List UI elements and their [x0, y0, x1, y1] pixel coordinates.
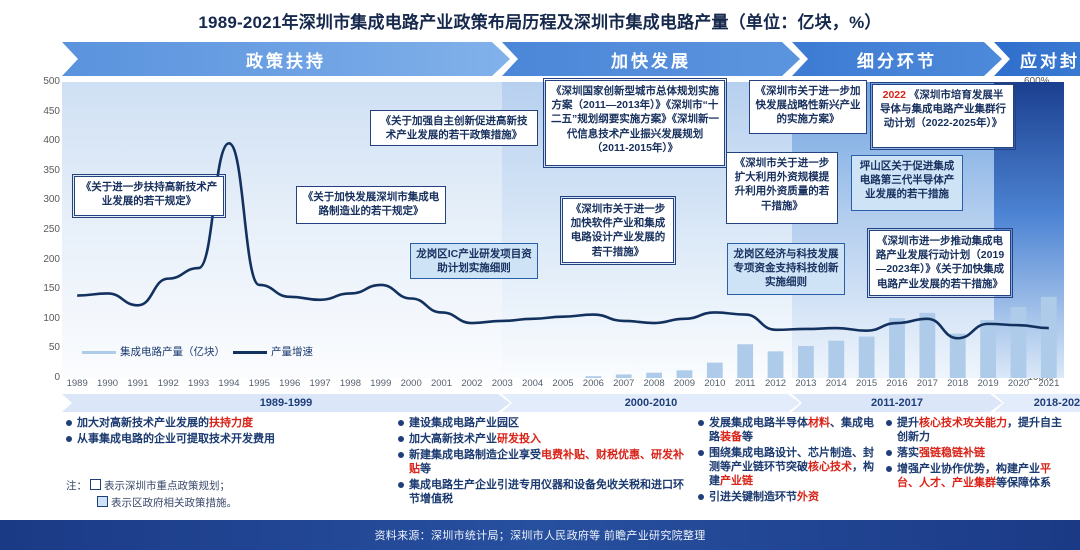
y-tick-left: 350 — [20, 165, 60, 176]
x-tick-year: 2000 — [401, 378, 422, 389]
bullet-highlight: 核心技术 — [808, 461, 852, 473]
x-tick-year: 1999 — [370, 378, 391, 389]
legend-item-growth: 产量增速 — [233, 344, 313, 359]
bullet-plain: 等 — [742, 431, 753, 443]
bullet-column-4: 提升核心技术攻关能力，提升自主创新力落实强链稳链补链增强产业协作优势，构建产业平… — [886, 416, 1064, 492]
square-district-icon — [97, 496, 108, 507]
bullet-plain: 从事集成电路的企业可提取技术开发费用 — [77, 433, 275, 445]
policy-callout-box[interactable]: 《深圳市关于进一步扩大利用外资规模提升利用外资质量的若干措施》 — [726, 152, 838, 224]
period-label-2: 2000-2010 — [502, 394, 800, 412]
policy-callout-box[interactable]: 《关于加快发展深圳市集成电路制造业的若干规定》 — [296, 186, 446, 224]
phase-banner: 政策扶持 加快发展 细分环节 应对封锁 — [62, 42, 1064, 76]
callout-text: 《关于加快发展深圳市集成电路制造业的若干规定》 — [303, 191, 440, 217]
x-tick-year: 2008 — [644, 378, 665, 389]
y-tick-left: 150 — [20, 283, 60, 294]
y-tick-left: 50 — [20, 342, 60, 353]
x-tick-year: 2004 — [522, 378, 543, 389]
square-key-icon — [90, 479, 101, 490]
x-tick-year: 1998 — [340, 378, 361, 389]
y-tick-left: 100 — [20, 313, 60, 324]
policy-callout-box[interactable]: 《关于进一步扶持高新技术产业发展的若干规定》 — [74, 176, 224, 216]
x-tick-year: 2007 — [613, 378, 634, 389]
legend-note: 注：表示深圳市重点政策规划； 表示区政府相关政策措施。 — [66, 478, 237, 512]
bullet-text: 发展集成电路半导体材料、集成电路装备等 — [709, 416, 882, 444]
bullet-plain: 建设集成电路产业园区 — [409, 417, 519, 429]
x-tick-year: 1994 — [218, 378, 239, 389]
bullet-column-2: 建设集成电路产业园区加大高新技术产业研发投入新建集成电路制造企业享受电费补贴、财… — [398, 416, 694, 508]
bullet-highlight: 核心技术攻关能力 — [919, 417, 1007, 429]
callout-text: 《深圳市关于进一步加快软件产业和集成电路设计产业发展的若干措施》 — [571, 203, 666, 258]
bullet-text: 落实强链稳链补链 — [897, 446, 985, 460]
bullet-highlight: 材料 — [808, 417, 830, 429]
bullet-text: 加大高新技术产业研发投入 — [409, 432, 541, 446]
bullet-item: 增强产业协作优势，构建产业平台、人才、产业集群等保障体系 — [886, 462, 1064, 490]
x-tick-year: 2006 — [583, 378, 604, 389]
bullet-item: 提升核心技术攻关能力，提升自主创新力 — [886, 416, 1064, 444]
callout-text: 坪山区关于促进集成电路第三代半导体产业发展的若干措施 — [860, 160, 955, 200]
bullet-item: 加大对高新技术产业发展的扶持力度 — [66, 416, 388, 430]
phase-chevron-2[interactable]: 加快发展 — [502, 42, 800, 76]
policy-callout-box[interactable]: 龙岗区IC产业研发项目资助计划实施细则 — [410, 243, 538, 279]
phase-chevron-3[interactable]: 细分环节 — [792, 42, 1002, 76]
x-tick-year: 2019 — [978, 378, 999, 389]
callout-text: 《深圳国家创新型城市总体规划实施方案（2011—2013年）》《深圳市“十二五”… — [551, 85, 719, 154]
callout-year: 2022 — [883, 89, 909, 101]
bullet-dot-icon — [886, 466, 892, 472]
callout-text: 《深圳市关于进一步扩大利用外资规模提升利用外资质量的若干措施》 — [735, 157, 830, 212]
bullet-dot-icon — [886, 420, 892, 426]
bullet-plain: 加大对高新技术产业发展的 — [77, 417, 209, 429]
phase-chevron-4[interactable]: 应对封锁 — [994, 42, 1080, 76]
bullet-text: 加大对高新技术产业发展的扶持力度 — [77, 416, 253, 430]
policy-callout-box[interactable]: 坪山区关于促进集成电路第三代半导体产业发展的若干措施 — [851, 155, 963, 211]
y-tick-left: 250 — [20, 224, 60, 235]
policy-callout-box[interactable]: 《关于加强自主创新促进高新技术产业发展的若干政策措施》 — [370, 110, 538, 146]
y-tick-left: 200 — [20, 254, 60, 265]
legend-label-output: 集成电路产量（亿块） — [120, 346, 225, 358]
bullet-plain: 集成电路生产企业引进专用仪器和设备免收关税和进口环节增值税 — [409, 479, 684, 505]
x-tick-year: 2002 — [461, 378, 482, 389]
period-band: 1989-1999 2000-2010 2011-2017 2018-2022 — [62, 394, 1064, 412]
x-tick-year: 1990 — [97, 378, 118, 389]
bullet-item: 加大高新技术产业研发投入 — [398, 432, 694, 446]
period-label-1: 1989-1999 — [62, 394, 510, 412]
bullet-dot-icon — [66, 420, 72, 426]
x-tick-year: 1996 — [279, 378, 300, 389]
x-tick-year: 2012 — [765, 378, 786, 389]
x-tick-year: 2011 — [735, 378, 755, 389]
bullet-highlight: 外资 — [797, 491, 819, 503]
chart-bar — [737, 344, 753, 378]
bullet-dot-icon — [698, 494, 704, 500]
note-line-2: 表示区政府相关政策措施。 — [66, 495, 237, 512]
chart-bar — [1011, 307, 1027, 378]
x-tick-year: 2017 — [917, 378, 938, 389]
callout-text: 龙岗区IC产业研发项目资助计划实施细则 — [416, 248, 532, 274]
bullet-plain: 增强产业协作优势，构建产业 — [897, 463, 1040, 475]
note-text-1: 表示深圳市重点政策规划； — [104, 480, 230, 492]
bullet-text: 引进关键制造环节外资 — [709, 490, 819, 504]
bullet-highlight: 扶持力度 — [209, 417, 253, 429]
x-tick-year: 2001 — [431, 378, 452, 389]
chart-bar — [950, 334, 966, 378]
bullet-item: 从事集成电路的企业可提取技术开发费用 — [66, 432, 388, 446]
bullet-text: 提升核心技术攻关能力，提升自主创新力 — [897, 416, 1064, 444]
bullet-plain: 落实 — [897, 447, 919, 459]
x-tick-year: 1997 — [310, 378, 331, 389]
callout-text: 《关于进一步扶持高新技术产业发展的若干规定》 — [81, 181, 218, 207]
x-axis: 1989199019911992199319941995199619971998… — [62, 378, 1064, 394]
bullet-text: 建设集成电路产业园区 — [409, 416, 519, 430]
y-tick-left: 300 — [20, 194, 60, 205]
policy-callout-box[interactable]: 龙岗区经济与科技发展专项资金支持科技创新实施细则 — [727, 243, 845, 295]
bullet-plain: 等保障体系 — [996, 477, 1051, 489]
bullet-dot-icon — [398, 420, 404, 426]
bullet-column-3: 发展集成电路半导体材料、集成电路装备等围绕集成电路设计、芯片制造、封测等产业链环… — [698, 416, 882, 506]
bullet-item: 落实强链稳链补链 — [886, 446, 1064, 460]
chart-bar — [768, 351, 784, 378]
note-line-1: 注：表示深圳市重点政策规划； — [66, 478, 237, 495]
bullet-item: 发展集成电路半导体材料、集成电路装备等 — [698, 416, 882, 444]
x-tick-year: 1989 — [67, 378, 88, 389]
x-tick-year: 2021 — [1038, 378, 1059, 389]
y-tick-left: 0 — [20, 372, 60, 383]
bullet-plain: 提升 — [897, 417, 919, 429]
policy-callout-box[interactable]: 《深圳市进一步推动集成电路产业发展行动计划（2019—2023年）》《关于加快集… — [869, 230, 1011, 296]
period-label-3: 2011-2017 — [792, 394, 1002, 412]
bullet-column-1: 加大对高新技术产业发展的扶持力度从事集成电路的企业可提取技术开发费用 — [66, 416, 388, 448]
phase-chevron-1[interactable]: 政策扶持 — [62, 42, 510, 76]
legend-swatch-growth — [233, 351, 267, 354]
bullet-item: 引进关键制造环节外资 — [698, 490, 882, 504]
chart-legend: 集成电路产量（亿块） 产量增速 — [82, 344, 313, 359]
chart-bar — [889, 318, 905, 378]
period-label-4: 2018-2022 — [994, 394, 1080, 412]
bullet-dot-icon — [398, 452, 404, 458]
x-tick-year: 1993 — [188, 378, 209, 389]
bullet-dot-icon — [698, 450, 704, 456]
bullet-dot-icon — [886, 450, 892, 456]
x-tick-year: 2005 — [552, 378, 573, 389]
callout-text: 《深圳市关于进一步加快发展战略性新兴产业的实施方案》 — [756, 85, 861, 125]
bullet-dot-icon — [398, 482, 404, 488]
bullet-dot-icon — [398, 436, 404, 442]
x-tick-year: 1991 — [127, 378, 148, 389]
bullet-plain: 新建集成电路制造企业享受 — [409, 449, 541, 461]
source-footer: 资料来源：深圳市统计局；深圳市人民政府等 前瞻产业研究院整理 — [0, 520, 1080, 550]
note-text-2: 表示区政府相关政策措施。 — [111, 497, 237, 509]
bullet-item: 新建集成电路制造企业享受电费补贴、财税优惠、研发补贴等 — [398, 448, 694, 476]
bullet-highlight: 强链稳链补链 — [919, 447, 985, 459]
callout-text: 龙岗区经济与科技发展专项资金支持科技创新实施细则 — [734, 248, 839, 288]
x-tick-year: 2010 — [704, 378, 725, 389]
x-tick-year: 2009 — [674, 378, 695, 389]
legend-swatch-output — [82, 351, 116, 354]
x-tick-year: 2018 — [947, 378, 968, 389]
bullet-highlight: 装备 — [720, 431, 742, 443]
page-title: 1989-2021年深圳市集成电路产业政策布局历程及深圳市集成电路产量（单位：亿… — [0, 8, 1080, 33]
bullet-text: 从事集成电路的企业可提取技术开发费用 — [77, 432, 275, 446]
bullet-highlight: 研发投入 — [497, 433, 541, 445]
x-tick-year: 1992 — [158, 378, 179, 389]
bullet-text: 新建集成电路制造企业享受电费补贴、财税优惠、研发补贴等 — [409, 448, 694, 476]
chart-bar — [707, 363, 723, 378]
bullet-item: 建设集成电路产业园区 — [398, 416, 694, 430]
policy-callout-box[interactable]: 2022 《深圳市培育发展半导体与集成电路产业集群行动计划（2022-2025年… — [872, 84, 1014, 148]
chart-bar — [859, 337, 875, 378]
x-tick-year: 2014 — [826, 378, 847, 389]
bullet-plain: 等 — [420, 463, 431, 475]
policy-callout-box[interactable]: 《深圳国家创新型城市总体规划实施方案（2011—2013年）》《深圳市“十二五”… — [545, 80, 725, 166]
bullet-plain: 加大高新技术产业 — [409, 433, 497, 445]
legend-label-growth: 产量增速 — [271, 346, 313, 358]
bullet-dot-icon — [66, 436, 72, 442]
chart-bar — [828, 341, 844, 378]
chart-bar — [919, 313, 935, 378]
bullet-text: 围绕集成电路设计、芯片制造、封测等产业链环节突破核心技术，构建产业链 — [709, 446, 882, 488]
policy-callout-box[interactable]: 《深圳市关于进一步加快软件产业和集成电路设计产业发展的若干措施》 — [562, 198, 674, 263]
bullet-plain: 引进关键制造环节 — [709, 491, 797, 503]
x-tick-year: 2013 — [795, 378, 816, 389]
bullet-highlight: 产业链 — [720, 475, 753, 487]
x-tick-year: 2016 — [886, 378, 907, 389]
x-tick-year: 2015 — [856, 378, 877, 389]
legend-item-output: 集成电路产量（亿块） — [82, 344, 225, 359]
y-tick-left: 400 — [20, 135, 60, 146]
bullet-text: 增强产业协作优势，构建产业平台、人才、产业集群等保障体系 — [897, 462, 1064, 490]
callout-text: 《深圳市进一步推动集成电路产业发展行动计划（2019—2023年）》《关于加快集… — [876, 235, 1004, 290]
chart-bar — [1041, 297, 1057, 378]
y-tick-left: 450 — [20, 106, 60, 117]
chart-bar — [980, 320, 996, 378]
y-tick-left: 500 — [20, 76, 60, 87]
chart-bar — [677, 370, 693, 378]
x-tick-year: 2020 — [1008, 378, 1029, 389]
chart-bar — [798, 346, 814, 378]
bullet-item: 围绕集成电路设计、芯片制造、封测等产业链环节突破核心技术，构建产业链 — [698, 446, 882, 488]
y-axis-left: 050100150200250300350400450500 — [16, 82, 60, 378]
bullet-text: 集成电路生产企业引进专用仪器和设备免收关税和进口环节增值税 — [409, 478, 694, 506]
bullet-item: 集成电路生产企业引进专用仪器和设备免收关税和进口环节增值税 — [398, 478, 694, 506]
policy-callout-box[interactable]: 《深圳市关于进一步加快发展战略性新兴产业的实施方案》 — [749, 80, 867, 134]
infographic-page: 1989-2021年深圳市集成电路产业政策布局历程及深圳市集成电路产量（单位：亿… — [0, 0, 1080, 550]
x-tick-year: 2003 — [492, 378, 513, 389]
x-tick-year: 1995 — [249, 378, 270, 389]
bullet-dot-icon — [698, 420, 704, 426]
bullet-plain: 发展集成电路半导体 — [709, 417, 808, 429]
callout-text: 《关于加强自主创新促进高新技术产业发展的若干政策措施》 — [381, 115, 528, 141]
note-prefix: 注： — [66, 480, 87, 492]
